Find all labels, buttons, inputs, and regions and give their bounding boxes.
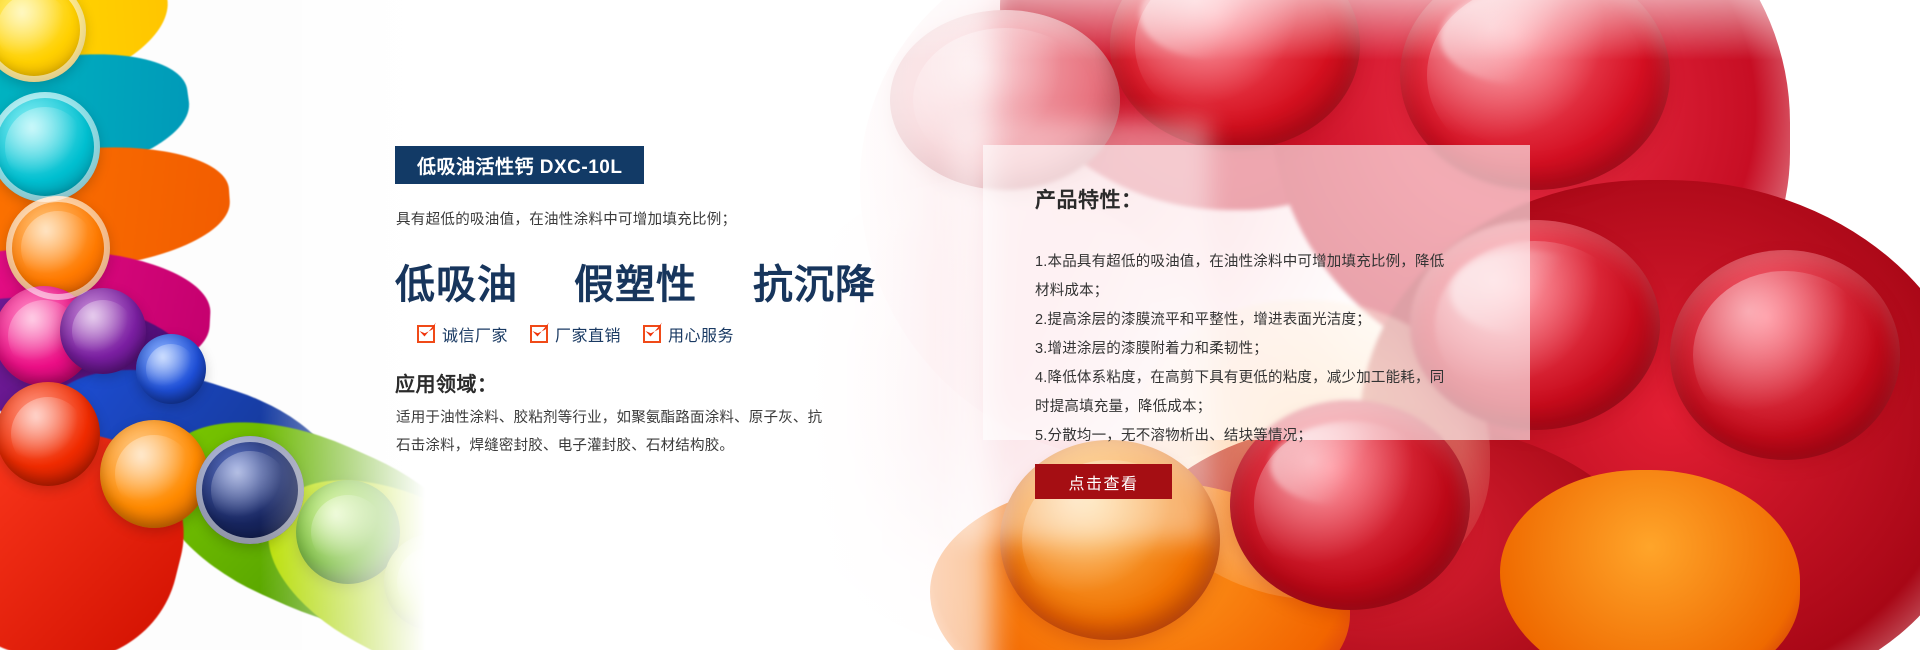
- paint-cup-blue-small: [136, 334, 206, 404]
- paint-cup-purple: [60, 288, 146, 374]
- left-content-column: 低吸油活性钙 DXC-10L 具有超低的吸油值，在油性涂料中可增加填充比例； 低…: [395, 0, 955, 650]
- product-title-badge: 低吸油活性钙 DXC-10L: [395, 146, 644, 184]
- application-section-body: 适用于油性涂料、胶粘剂等行业，如聚氨酯路面涂料、原子灰、抗石击涂料，焊缝密封胶、…: [396, 404, 828, 460]
- checkbox-checked-icon: [417, 325, 435, 343]
- paint-dish-red-far-right: [1670, 250, 1900, 460]
- view-details-button[interactable]: 点击查看: [1035, 464, 1172, 499]
- selling-point-label: 诚信厂家: [442, 322, 508, 346]
- paint-cup-orange-2: [100, 420, 208, 528]
- selling-point-label: 用心服务: [668, 322, 734, 346]
- feature-item: 3.增进涂层的漆膜附着力和柔韧性；: [1035, 335, 1455, 364]
- feature-item: 4.降低体系粘度，在高剪下具有更低的粘度，减少加工能耗，同时提高填充量，降低成本…: [1035, 364, 1455, 422]
- headline-word-1: 低吸油: [395, 252, 518, 310]
- headline-word-2: 假塑性: [574, 252, 697, 310]
- selling-point-3: 用心服务: [643, 322, 734, 346]
- selling-points-list: 诚信厂家 厂家直销 用心服务: [417, 322, 734, 346]
- application-section-title: 应用领域：: [395, 368, 498, 397]
- selling-point-2: 厂家直销: [530, 322, 621, 346]
- product-headline: 低吸油 假塑性 抗沉降: [395, 252, 876, 310]
- product-title-text: 低吸油活性钙 DXC-10L: [417, 152, 622, 179]
- promo-banner: 低吸油活性钙 DXC-10L 具有超低的吸油值，在油性涂料中可增加填充比例； 低…: [0, 0, 1920, 650]
- selling-point-1: 诚信厂家: [417, 322, 508, 346]
- features-panel-heading: 产品特性：: [1035, 184, 1143, 214]
- features-list: 1.本品具有超低的吸油值，在油性涂料中可增加填充比例，降低材料成本； 2.提高涂…: [1035, 248, 1455, 451]
- paint-cup-rim-orange: [6, 196, 110, 300]
- paint-cup-crimson: [0, 382, 100, 486]
- checkbox-checked-icon: [643, 325, 661, 343]
- feature-item: 1.本品具有超低的吸油值，在油性涂料中可增加填充比例，降低材料成本；: [1035, 248, 1455, 306]
- feature-item: 2.提高涂层的漆膜流平和平整性，增进表面光洁度；: [1035, 306, 1455, 335]
- feature-item: 5.分散均一，无不溶物析出、结块等情况；: [1035, 422, 1455, 451]
- artwork-fade-right-top: [800, 0, 1920, 60]
- selling-point-label: 厂家直销: [555, 322, 621, 346]
- checkbox-checked-icon: [530, 325, 548, 343]
- product-subline: 具有超低的吸油值，在油性涂料中可增加填充比例；: [396, 208, 736, 229]
- headline-word-3: 抗沉降: [753, 252, 876, 310]
